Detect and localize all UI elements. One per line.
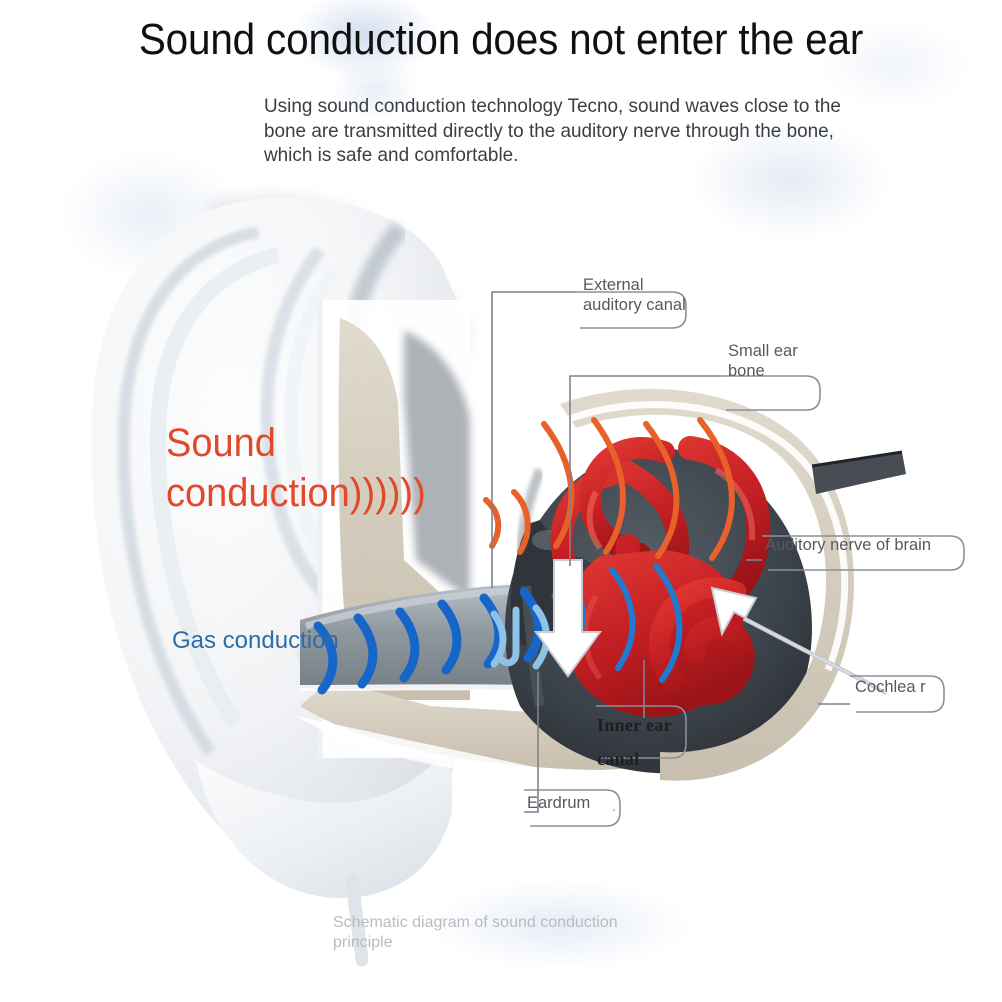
callout-label-auditory-nerve-of-brain: Auditory nerve of brain [765, 536, 965, 556]
page-title: Sound conduction does not enter the ear [40, 14, 962, 66]
infographic-canvas: Sound conduction does not enter the ear … [0, 0, 1002, 1002]
eardrum-dot-mark: . [612, 798, 616, 814]
callout-label-external-auditory-canal: External auditory canal [583, 276, 693, 315]
gas-conduction-label: Gas conduction [172, 626, 372, 655]
page-subtitle: Using sound conduction technology Tecno,… [264, 94, 846, 168]
callout-label-cochlea: Cochlea r [855, 678, 945, 698]
figure-caption: Schematic diagram of sound conduction pr… [333, 913, 663, 953]
sound-conduction-label: Sound conduction)))))) [166, 418, 546, 518]
ear-canal-lower-edge [300, 687, 528, 688]
callout-label-inner-ear-canal: Inner ear canal [597, 708, 717, 776]
callout-label-small-ear-bone: Small ear bone [728, 342, 838, 381]
callout-label-eardrum: Eardrum [527, 794, 647, 814]
